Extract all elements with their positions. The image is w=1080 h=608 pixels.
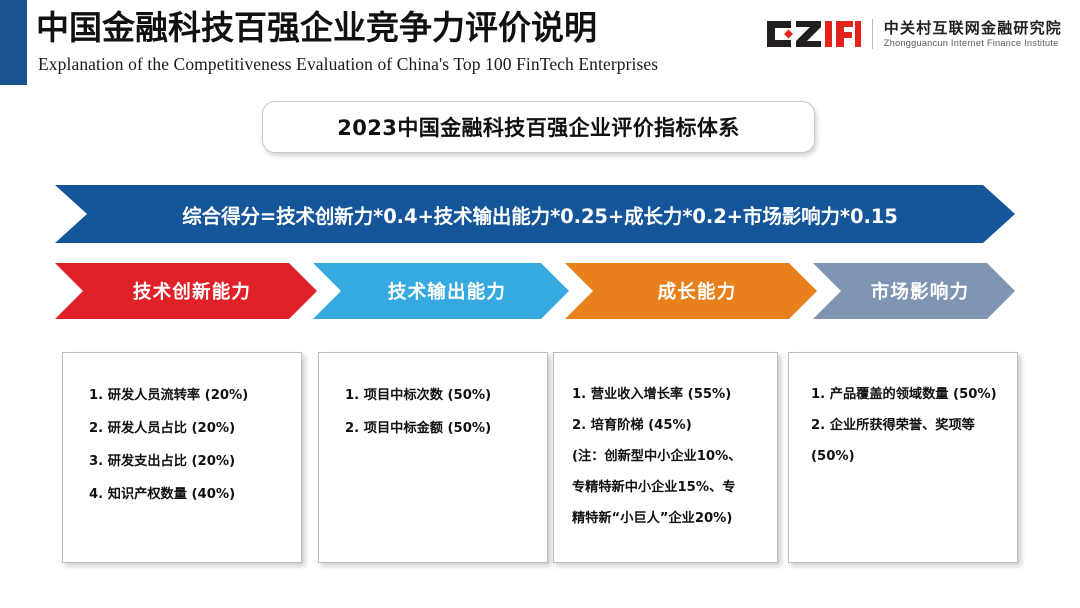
logo-divider [872,19,873,49]
indicator-item: 1. 产品覆盖的领域数量 (50%) [803,379,1003,410]
dimension-arrow-growth[interactable]: 成长能力 [565,263,817,319]
indicator-box-tech-innovation: 1. 研发人员流转率 (20%) 2. 研发人员占比 (20%) 3. 研发支出… [62,352,302,563]
indicator-item: 2. 研发人员占比 (20%) [77,412,287,445]
slide-header: 中国金融科技百强企业竞争力评价说明 Explanation of the Com… [0,0,1080,88]
dimension-label: 市场影响力 [859,278,970,304]
indicator-item: (50%) [803,441,1003,472]
indicator-item: 2. 企业所获得荣誉、奖项等 [803,410,1003,441]
indicator-item: 1. 营业收入增长率 (55%) [568,379,763,410]
logo-name-english: Zhongguancun Internet Finance Institute [884,37,1062,50]
logo-wordmark: 中关村互联网金融研究院 Zhongguancun Internet Financ… [884,19,1062,50]
page-title-english: Explanation of the Competitiveness Evalu… [38,54,658,75]
indicator-box-tech-output: 1. 项目中标次数 (50%) 2. 项目中标金额 (50%) [318,352,548,563]
score-formula-text: 综合得分=技术创新力*0.4+技术输出能力*0.25+成长力*0.2+市场影响力… [172,200,897,229]
dimension-arrow-tech-innovation[interactable]: 技术创新能力 [55,263,317,319]
index-system-title-text: 2023中国金融科技百强企业评价指标体系 [337,112,739,142]
indicator-item: 1. 研发人员流转率 (20%) [77,379,287,412]
indicator-item: 1. 项目中标次数 (50%) [333,379,533,412]
dimension-label: 成长能力 [646,278,737,304]
indicator-box-market-influence: 1. 产品覆盖的领域数量 (50%) 2. 企业所获得荣誉、奖项等 (50%) [788,352,1018,563]
institute-logo: 中关村互联网金融研究院 Zhongguancun Internet Financ… [765,12,1062,56]
logo-name-chinese: 中关村互联网金融研究院 [884,19,1062,37]
dimension-label: 技术创新能力 [121,278,251,304]
dimension-arrow-row: 技术创新能力 技术输出能力 成长能力 市场影响力 [0,263,1080,319]
indicator-item: 3. 研发支出占比 (20%) [77,445,287,478]
czifi-logo-icon [765,17,861,51]
indicator-note: 精特新“小巨人”企业20%) [568,503,763,534]
indicator-item: 4. 知识产权数量 (40%) [77,478,287,511]
indicator-detail-row: 1. 研发人员流转率 (20%) 2. 研发人员占比 (20%) 3. 研发支出… [0,352,1080,567]
slide-canvas: 中国金融科技百强企业竞争力评价说明 Explanation of the Com… [0,0,1080,608]
score-formula-banner: 综合得分=技术创新力*0.4+技术输出能力*0.25+成长力*0.2+市场影响力… [55,185,1015,243]
page-title-chinese: 中国金融科技百强企业竞争力评价说明 [36,7,597,48]
dimension-arrow-tech-output[interactable]: 技术输出能力 [313,263,569,319]
index-system-title-card: 2023中国金融科技百强企业评价指标体系 [262,101,815,153]
indicator-item: 2. 培育阶梯 (45%) [568,410,763,441]
dimension-label: 技术输出能力 [376,278,506,304]
header-accent-bar [0,0,27,85]
indicator-note: (注：创新型中小企业10%、 [568,441,763,472]
dimension-arrow-market-influence[interactable]: 市场影响力 [813,263,1015,319]
indicator-note: 专精特新中小企业15%、专 [568,472,763,503]
indicator-box-growth: 1. 营业收入增长率 (55%) 2. 培育阶梯 (45%) (注：创新型中小企… [553,352,778,563]
indicator-item: 2. 项目中标金额 (50%) [333,412,533,445]
